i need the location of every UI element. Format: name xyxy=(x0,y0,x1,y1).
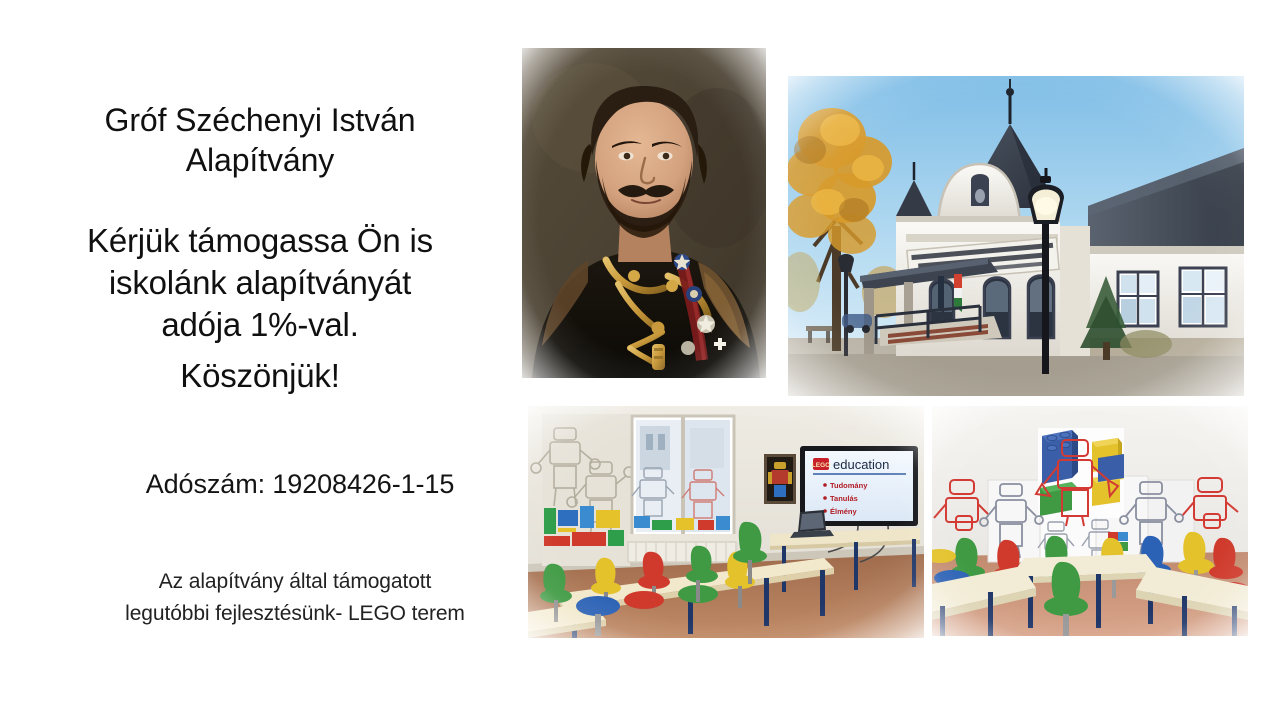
tax-number-text: Adószám: 19208426-1-15 xyxy=(20,467,580,502)
portrait-illustration xyxy=(522,48,766,378)
svg-text:Tudomány: Tudomány xyxy=(830,481,868,490)
foundation-title: Gróf Széchenyi István Alapítvány xyxy=(30,100,490,181)
school-building-illustration xyxy=(788,76,1244,396)
text-column: Gróf Széchenyi István Alapítvány Kérjük … xyxy=(0,0,520,720)
svg-text:education: education xyxy=(833,457,889,472)
support-appeal-text: Kérjük támogassa Ön is iskolánk alapítvá… xyxy=(20,220,500,347)
lego-classroom-illustration: LEGO education Tudomány Tanulás Élmény xyxy=(528,406,924,638)
svg-text:Tanulás: Tanulás xyxy=(830,494,858,503)
svg-text:LEGO: LEGO xyxy=(812,462,830,469)
lego-brick-mosaic xyxy=(544,506,624,546)
thanks-text: Köszönjük! xyxy=(20,355,500,397)
slide-canvas: Gróf Széchenyi István Alapítvány Kérjük … xyxy=(0,0,1280,720)
lego-classroom-wall-mural xyxy=(932,406,1248,636)
photo-caption-text: Az alapítvány által támogatott legutóbbi… xyxy=(60,566,530,630)
school-building-exterior xyxy=(788,76,1244,396)
lego-classroom-with-screen: LEGO education Tudomány Tanulás Élmény xyxy=(528,406,924,638)
portrait-szechenyi-istvan xyxy=(522,48,766,378)
lego-mural-illustration xyxy=(932,406,1248,636)
svg-text:Élmény: Élmény xyxy=(830,507,858,516)
